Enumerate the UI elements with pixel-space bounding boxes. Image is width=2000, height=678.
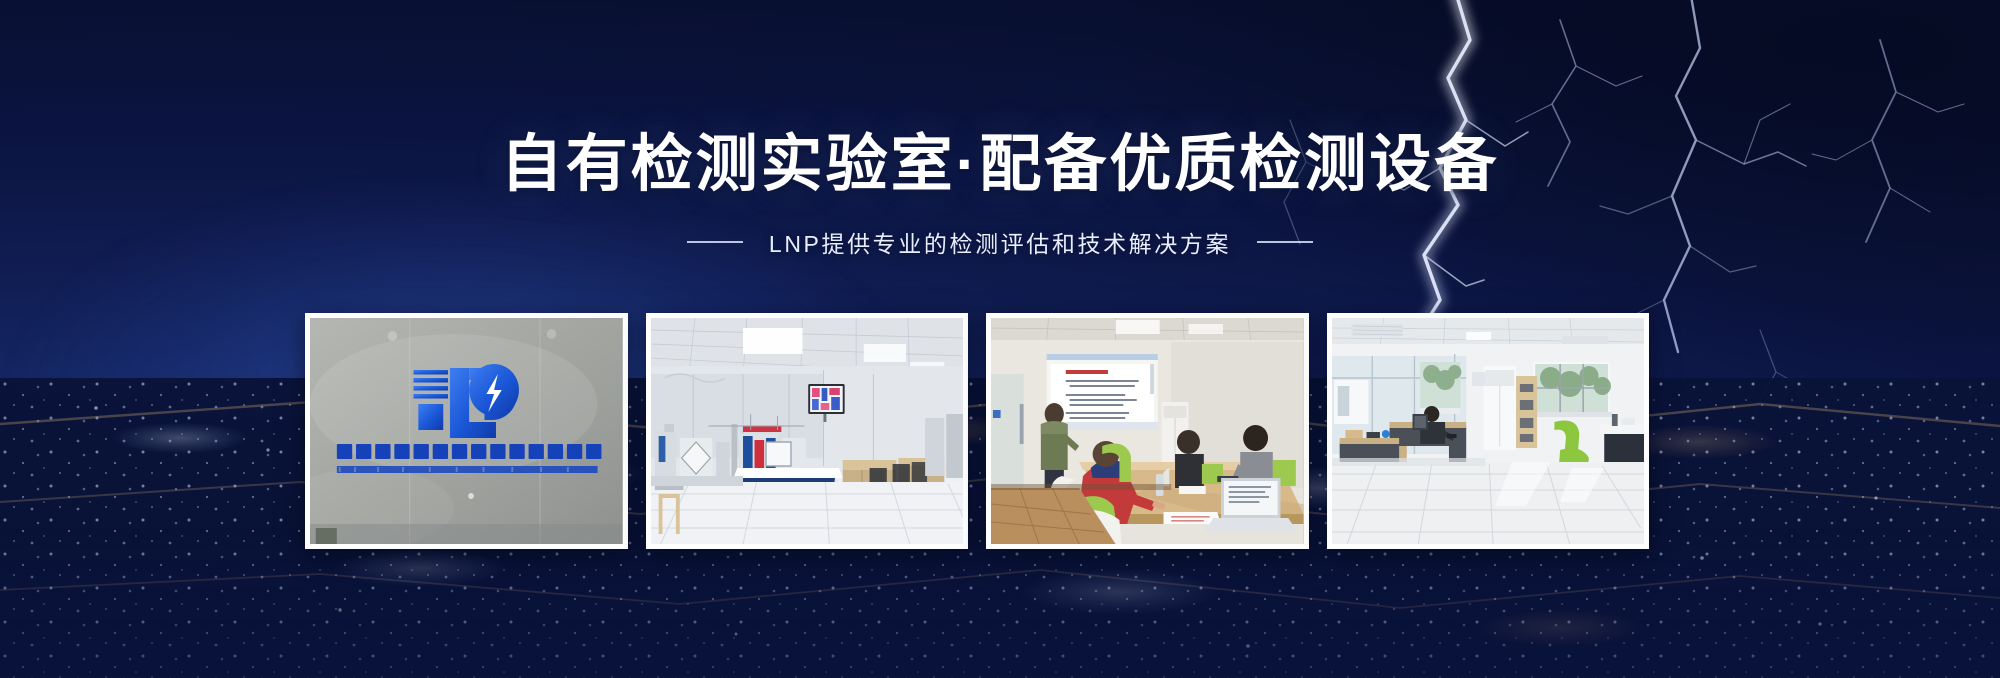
page-subtitle: LNP提供专业的检测评估和技术解决方案 — [769, 225, 1231, 259]
hero-banner: 自有检测实验室·配备优质检测设备 LNP提供专业的检测评估和技术解决方案 — [0, 0, 2000, 678]
gallery-item-training-meeting-room[interactable] — [986, 313, 1309, 549]
photo-company-signage — [310, 318, 623, 544]
photo-office-area — [1332, 318, 1645, 544]
gallery-item-testing-laboratory[interactable] — [646, 313, 969, 549]
headline-block: 自有检测实验室·配备优质检测设备 LNP提供专业的检测评估和技术解决方案 — [0, 130, 2000, 259]
page-title: 自有检测实验室·配备优质检测设备 — [0, 130, 2000, 201]
gallery-item-office-area[interactable] — [1327, 313, 1650, 549]
divider-dash-left — [687, 241, 743, 243]
divider-dash-right — [1257, 241, 1313, 243]
photo-testing-laboratory — [651, 318, 964, 544]
subtitle-row: LNP提供专业的检测评估和技术解决方案 — [0, 225, 2000, 259]
city-haze — [0, 528, 2000, 678]
photo-training-meeting-room — [991, 318, 1304, 544]
photo-gallery-strip — [305, 313, 1649, 549]
gallery-item-company-signage[interactable] — [305, 313, 628, 549]
